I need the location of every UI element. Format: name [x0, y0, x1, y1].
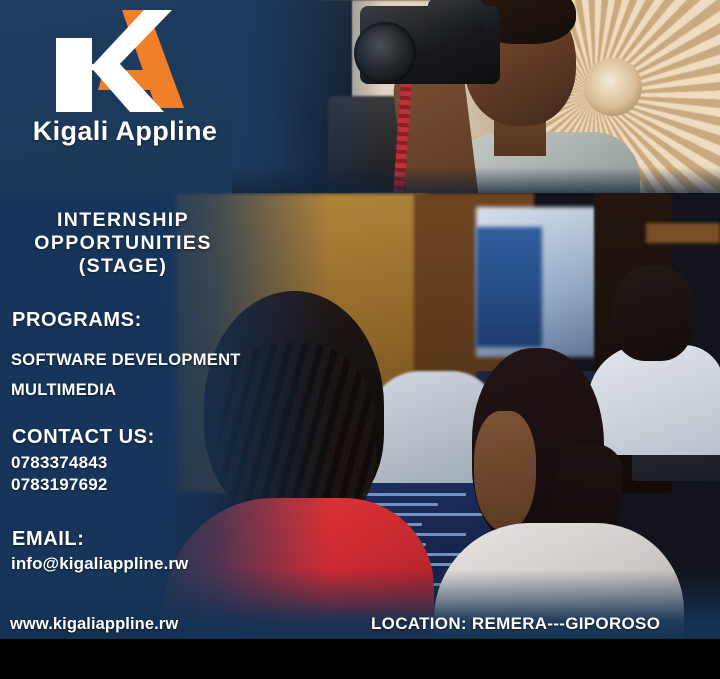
headline-line-1: INTERNSHIP — [6, 209, 240, 232]
ka-monogram-icon — [48, 8, 196, 116]
top-photo-left-fade — [232, 0, 382, 193]
parasol-hub — [584, 58, 642, 116]
website-url[interactable]: www.kigaliappline.rw — [10, 615, 178, 634]
programs-list: SOFTWARE DEVELOPMENT MULTIMEDIA — [11, 345, 261, 405]
photographer-with-camera-photo — [232, 0, 720, 193]
list-item: MULTIMEDIA — [11, 375, 261, 405]
location-text: LOCATION: REMERA---GIPOROSO — [371, 614, 660, 634]
bottom-black-bar — [0, 639, 720, 679]
phone-list: 0783374843 0783197692 — [11, 452, 261, 496]
email-label: EMAIL: — [12, 528, 84, 551]
phone-number[interactable]: 0783197692 — [11, 474, 261, 496]
brand-logo: Kigali Appline — [0, 0, 250, 165]
page-title: INTERNSHIP OPPORTUNITIES (STAGE) — [6, 209, 240, 278]
poster-canvas: Kigali Appline INTERNSHIP OPPORTUNITIES … — [0, 0, 720, 679]
student-front-right-face — [474, 411, 536, 531]
window-blue-panel — [476, 227, 542, 347]
programs-label: PROGRAMS: — [12, 309, 142, 332]
list-item: SOFTWARE DEVELOPMENT — [11, 345, 261, 375]
headline-line-2: OPPORTUNITIES — [6, 232, 240, 255]
student-back-right-head — [612, 265, 694, 361]
student-back-right-body — [588, 345, 720, 455]
contact-label: CONTACT US: — [12, 426, 155, 449]
wall-shelf — [646, 223, 720, 243]
phone-number[interactable]: 0783374843 — [11, 452, 261, 474]
email-address[interactable]: info@kigaliappline.rw — [11, 554, 188, 574]
top-photo-bottom-fade — [232, 167, 720, 193]
camera-top-grip — [428, 0, 484, 32]
brand-wordmark: Kigali Appline — [0, 116, 250, 147]
headline-line-3: (STAGE) — [6, 255, 240, 278]
